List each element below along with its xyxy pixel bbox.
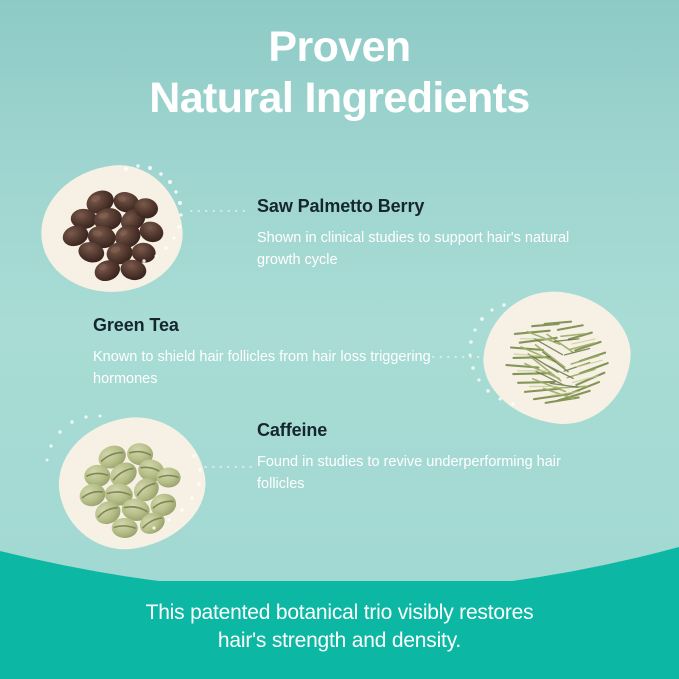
ingredients-infographic: Proven Natural Ingredients (0, 0, 679, 679)
ingredient-title: Green Tea (93, 315, 443, 336)
image-saw-palmetto-berries (35, 159, 188, 299)
ingredient-title: Caffeine (257, 420, 607, 441)
banner-text-line-1: This patented botanical trio visibly res… (0, 599, 679, 627)
image-green-coffee-beans (49, 406, 215, 559)
ingredient-description: Known to shield hair follicles from hair… (93, 347, 443, 391)
ingredient-green-tea: Green Tea Known to shield hair follicles… (93, 315, 443, 391)
image-green-tea-leaves (476, 282, 639, 432)
ingredient-saw-palmetto-berry: Saw Palmetto Berry Shown in clinical stu… (257, 196, 607, 272)
connector-caffeine (197, 462, 253, 472)
connector-saw-palmetto (190, 206, 252, 216)
ingredient-description: Shown in clinical studies to support hai… (257, 228, 607, 272)
page-title: Proven Natural Ingredients (0, 22, 679, 123)
banner-text: This patented botanical trio visibly res… (0, 599, 679, 656)
ingredient-title: Saw Palmetto Berry (257, 196, 607, 217)
page-title-line-1: Proven (0, 22, 679, 73)
banner-text-line-2: hair's strength and density. (0, 627, 679, 655)
ingredient-description: Found in studies to revive underperformi… (257, 452, 607, 496)
bottom-banner: This patented botanical trio visibly res… (0, 547, 679, 679)
page-title-line-2: Natural Ingredients (0, 73, 679, 124)
ingredient-caffeine: Caffeine Found in studies to revive unde… (257, 420, 607, 496)
